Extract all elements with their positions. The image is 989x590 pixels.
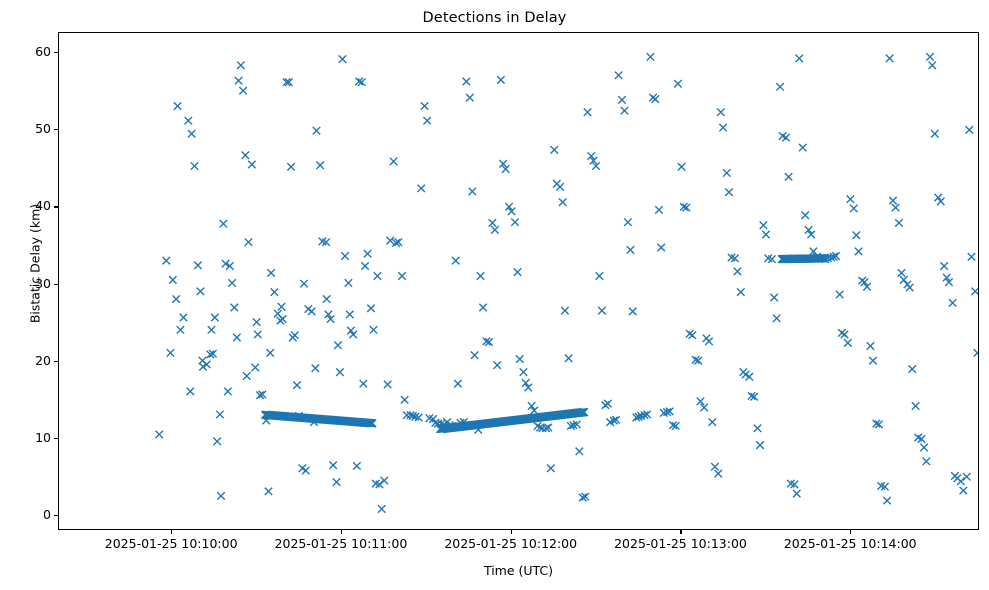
x-axis-label: Time (UTC) xyxy=(58,563,979,578)
x-tick-label: 2025-01-25 10:11:00 xyxy=(241,536,441,551)
x-tick-mark xyxy=(511,530,512,534)
x-tick-mark xyxy=(341,530,342,534)
page-title: Detections in Delay xyxy=(0,10,989,26)
x-tick-label: 2025-01-25 10:10:00 xyxy=(71,536,271,551)
x-tick-label: 2025-01-25 10:13:00 xyxy=(580,536,780,551)
x-tick-label: 2025-01-25 10:12:00 xyxy=(411,536,611,551)
scatter-marker-group xyxy=(155,53,978,513)
x-tick-mark xyxy=(171,530,172,534)
scatter-points-layer xyxy=(59,33,978,529)
x-tick-mark xyxy=(850,530,851,534)
y-axis-label: Bistatic Delay (km) xyxy=(28,15,43,513)
x-tick-label: 2025-01-25 10:14:00 xyxy=(750,536,950,551)
figure-canvas: Detections in Delay 0102030405060 2025-0… xyxy=(0,0,989,590)
x-tick-mark xyxy=(680,530,681,534)
plot-area xyxy=(58,32,979,530)
